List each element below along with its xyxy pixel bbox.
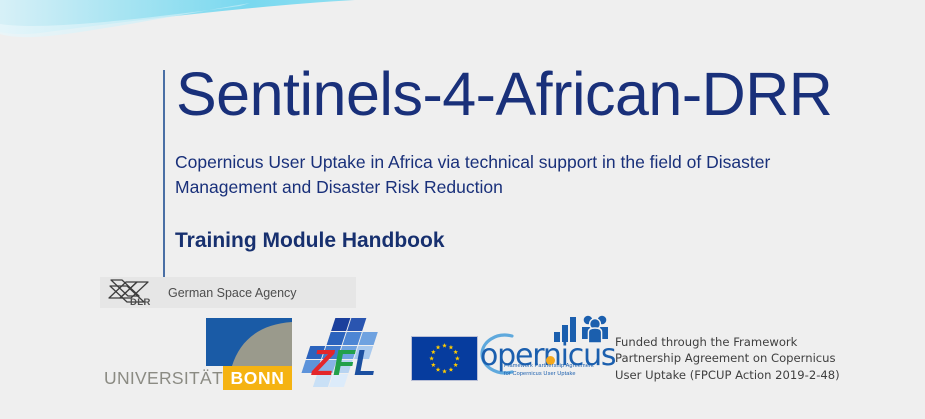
subtitle-line-1: Copernicus User Uptake in Africa via tec… xyxy=(175,150,910,175)
funding-line-2: Partnership Agreement on Copernicus xyxy=(615,350,865,366)
copernicus-tagline-line-1: Framework Partnership Agreement xyxy=(504,362,594,370)
dlr-name-label: German Space Agency xyxy=(168,286,297,300)
slide-canvas: Sentinels-4-African-DRR Copernicus User … xyxy=(0,0,925,419)
dlr-abbrev-label: DLR xyxy=(130,297,151,308)
bonn-city-label: BONN xyxy=(223,366,292,390)
bonn-wordmark: UNIVERSITÄT BONN xyxy=(104,366,292,390)
copernicus-logo: opernicus Framework Partnership Agreemen… xyxy=(480,316,612,388)
zfl-letter-l: L xyxy=(354,342,375,383)
zfl-letter-z: Z xyxy=(312,342,333,383)
subtitle-line-2: Management and Disaster Risk Reduction xyxy=(175,175,910,200)
dlr-emblem-icon: DLR xyxy=(106,278,152,307)
vertical-accent-bar xyxy=(163,70,165,286)
bonn-universitat-label: UNIVERSITÄT xyxy=(104,366,223,390)
people-group-icon xyxy=(580,314,610,344)
page-title: Sentinels-4-African-DRR xyxy=(176,62,832,126)
university-bonn-logo: UNIVERSITÄT BONN xyxy=(104,318,292,390)
dlr-logo: DLR German Space Agency xyxy=(100,277,356,308)
copernicus-tagline-line-2: for Copernicus User Uptake xyxy=(504,370,594,378)
zfl-wordmark: ZFL xyxy=(312,342,375,384)
funding-statement: Funded through the Framework Partnership… xyxy=(615,334,865,383)
copernicus-tagline: Framework Partnership Agreement for Cope… xyxy=(504,362,594,378)
funding-line-3: User Uptake (FPCUP Action 2019-2-48) xyxy=(615,367,865,383)
zfl-logo: ZFL xyxy=(296,316,400,392)
zfl-letter-f: F xyxy=(333,342,354,383)
bonn-emblem-icon xyxy=(206,318,292,366)
funding-line-1: Funded through the Framework xyxy=(615,334,865,350)
page-subtitle: Copernicus User Uptake in Africa via tec… xyxy=(175,150,910,200)
bar-chart-icon xyxy=(553,316,581,342)
european-union-flag-icon xyxy=(411,336,478,381)
bonn-emblem-blue-shape xyxy=(206,318,292,366)
section-title: Training Module Handbook xyxy=(175,229,445,253)
